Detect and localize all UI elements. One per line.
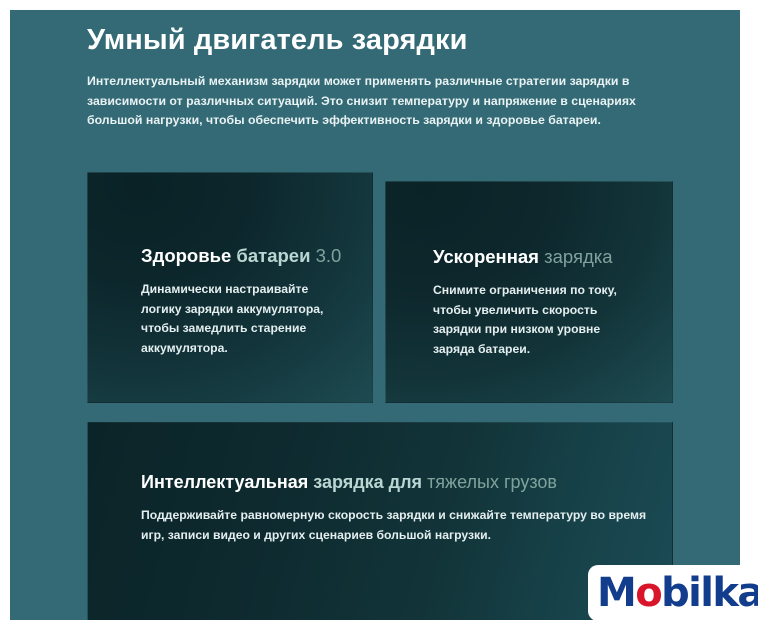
logo-letter-o: o [635,570,661,616]
card-fast-charging-body: Снимите ограничения по току, чтобы увели… [433,281,628,359]
card-fast-charging-content: Ускоренная зарядка Снимите ограничения п… [386,245,672,359]
card-fast-charging: Ускоренная зарядка Снимите ограничения п… [385,181,673,403]
card-title-strong: Интеллектуальная [141,472,308,492]
card-battery-health-content: Здоровье батареи 3.0 Динамически настраи… [88,244,372,358]
screenshot-root: Умный двигатель зарядки Интеллектуальный… [0,0,758,640]
card-heavy-load-charging-body: Поддерживайте равномерную скорость заряд… [141,506,651,545]
mobilka-logo-badge: Mobilka [588,565,758,621]
mobilka-wordmark: Mobilka [597,573,758,613]
card-title-tail: тяжелых грузов [427,472,557,492]
card-title-version: 3.0 [316,245,342,266]
page-description: Интеллектуальный механизм зарядки может … [87,72,665,131]
card-battery-health-title: Здоровье батареи 3.0 [141,244,372,268]
card-heavy-load-charging-title: Интеллектуальная зарядка для тяжелых гру… [141,470,672,494]
card-title-mid: зарядка для [313,472,422,492]
card-title-strong: Ускоренная [433,246,539,267]
card-heavy-load-charging-content: Интеллектуальная зарядка для тяжелых гру… [88,470,672,545]
logo-letters-bilka: bilka [661,570,758,616]
logo-letter-m: M [597,570,635,616]
page-title: Умный двигатель зарядки [87,22,677,58]
card-fast-charging-title: Ускоренная зарядка [433,245,672,269]
card-title-mid: батареи [236,245,310,266]
card-title-mid: зарядка [544,246,612,267]
card-title-strong: Здоровье [141,245,231,266]
card-battery-health: Здоровье батареи 3.0 Динамически настраи… [87,172,373,403]
header-block: Умный двигатель зарядки Интеллектуальный… [87,22,677,131]
card-battery-health-body: Динамически настраивайте логику зарядки … [141,280,346,358]
card-heavy-load-charging: Интеллектуальная зарядка для тяжелых гру… [87,422,673,620]
page-canvas: Умный двигатель зарядки Интеллектуальный… [10,10,740,620]
